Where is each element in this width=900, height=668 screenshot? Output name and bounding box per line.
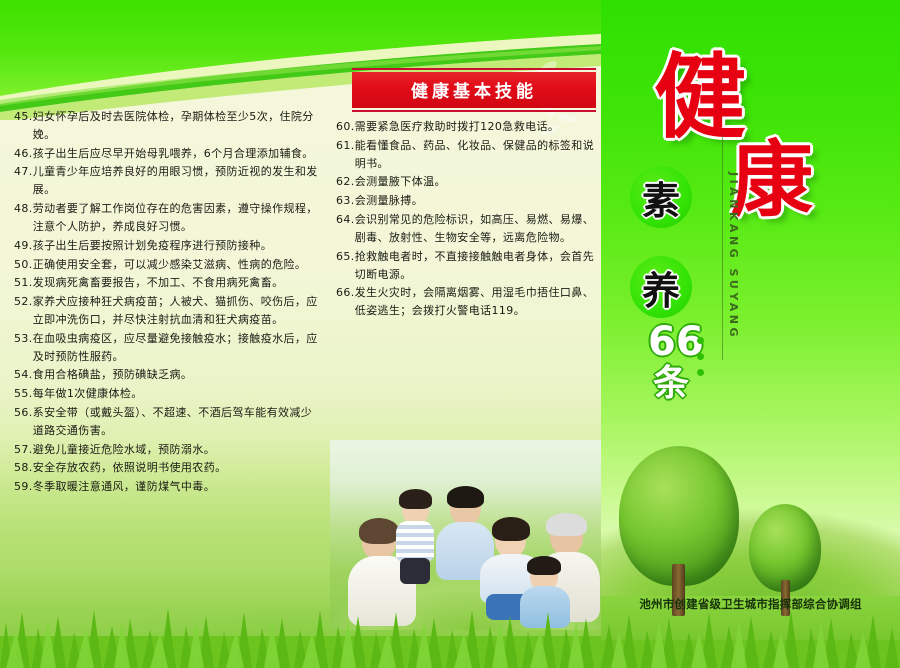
list-item-number: 50. [14, 256, 33, 274]
list-item: 52.家养犬应接种狂犬病疫苗；人被犬、猫抓伤、咬伤后，应立即冲洗伤口，并尽快注射… [14, 293, 320, 329]
decor-dot-2 [697, 353, 704, 360]
cover-panel: 健 康 素 养 66 条 池州市创建省级卫生城市指挥部综合协调组 [601, 0, 900, 668]
banner-rule-top [352, 68, 596, 70]
family-photo [330, 440, 601, 630]
list-item-number: 62. [336, 173, 355, 191]
list-item-number: 45. [14, 108, 33, 144]
list-item-text: 儿童青少年应培养良好的用眼习惯，预防近视的发生和发展。 [33, 163, 320, 199]
list-item-text: 正确使用安全套，可以减少感染艾滋病、性病的危险。 [33, 256, 320, 274]
list-item: 62.会测量腋下体温。 [336, 173, 598, 191]
pinyin-rule [722, 135, 723, 360]
list-item-number: 59. [14, 478, 33, 496]
list-item: 53.在血吸虫病疫区，应尽量避免接触疫水；接触疫水后，应及时预防性服药。 [14, 330, 320, 366]
list-item-number: 65. [336, 248, 355, 284]
list-item-text: 能看懂食品、药品、化妆品、保健品的标签和说明书。 [355, 137, 598, 173]
list-item: 47.儿童青少年应培养良好的用眼习惯，预防近视的发生和发展。 [14, 163, 320, 199]
left-text-column: 45.妇女怀孕后及时去医院体检，孕期体检至少5次，住院分娩。46.孩子出生后应尽… [14, 108, 320, 497]
section-banner: 健康基本技能 [352, 68, 596, 112]
list-item-number: 51. [14, 274, 33, 292]
list-item-text: 劳动者要了解工作岗位存在的危害因素，遵守操作规程，注意个人防护，养成良好习惯。 [33, 200, 320, 236]
list-item-text: 孩子出生后应尽早开始母乳喂养，6个月合理添加辅食。 [33, 145, 320, 163]
list-item-text: 会识别常见的危险标识，如高压、易燃、易爆、剧毒、放射性、生物安全等，远离危险物。 [355, 211, 598, 247]
list-item-number: 64. [336, 211, 355, 247]
list-item-text: 冬季取暖注意通风，谨防煤气中毒。 [33, 478, 320, 496]
list-item: 54.食用合格碘盐，预防碘缺乏病。 [14, 366, 320, 384]
list-item: 50.正确使用安全套，可以减少感染艾滋病、性病的危险。 [14, 256, 320, 274]
list-item: 66.发生火灾时，会隔离烟雾、用湿毛巾捂住口鼻、低姿逃生；会拨打火警电话119。 [336, 284, 598, 320]
list-item: 58.安全存放农药，依照说明书使用农药。 [14, 459, 320, 477]
list-item-text: 每年做1次健康体检。 [33, 385, 320, 403]
cover-circle-yang: 养 [630, 256, 692, 318]
grass-strip-inner [0, 606, 601, 668]
right-text-column: 60.需要紧急医疗救助时拨打120急救电话。61.能看懂食品、药品、化妆品、保健… [336, 118, 598, 321]
list-item-text: 家养犬应接种狂犬病疫苗；人被犬、猫抓伤、咬伤后，应立即冲洗伤口，并尽快注射抗血清… [33, 293, 320, 329]
list-item-text: 会测量腋下体温。 [355, 173, 598, 191]
decor-dot-1 [697, 337, 704, 344]
banner-rule-bottom [352, 110, 596, 112]
list-item: 45.妇女怀孕后及时去医院体检，孕期体检至少5次，住院分娩。 [14, 108, 320, 144]
list-item-text: 会测量脉搏。 [355, 192, 598, 210]
list-item-number: 66. [336, 284, 355, 320]
cover-count-number: 66 [648, 322, 704, 362]
list-item-text: 发现病死禽畜要报告，不加工、不食用病死禽畜。 [33, 274, 320, 292]
list-item: 65.抢救触电者时，不直接接触触电者身体，会首先切断电源。 [336, 248, 598, 284]
list-item-number: 47. [14, 163, 33, 199]
grass-strip-cover [601, 606, 900, 668]
list-item: 48.劳动者要了解工作岗位存在的危害因素，遵守操作规程，注意个人防护，养成良好习… [14, 200, 320, 236]
list-item-number: 61. [336, 137, 355, 173]
list-item-number: 54. [14, 366, 33, 384]
list-item-number: 49. [14, 237, 33, 255]
cover-pinyin: JIANKANG SUYANG [727, 172, 740, 340]
decor-dot-3 [697, 369, 704, 376]
inner-spread-panel: 健康基本技能 45.妇女怀孕后及时去医院体检，孕期体检至少5次，住院分娩。46.… [0, 0, 601, 668]
list-item: 59.冬季取暖注意通风，谨防煤气中毒。 [14, 478, 320, 496]
list-item-text: 安全存放农药，依照说明书使用农药。 [33, 459, 320, 477]
list-item-text: 需要紧急医疗救助时拨打120急救电话。 [355, 118, 598, 136]
list-item: 46.孩子出生后应尽早开始母乳喂养，6个月合理添加辅食。 [14, 145, 320, 163]
list-item-text: 发生火灾时，会隔离烟雾、用湿毛巾捂住口鼻、低姿逃生；会拨打火警电话119。 [355, 284, 598, 320]
list-item-text: 抢救触电者时，不直接接触触电者身体，会首先切断电源。 [355, 248, 598, 284]
list-item: 61.能看懂食品、药品、化妆品、保健品的标签和说明书。 [336, 137, 598, 173]
list-item-text: 避免儿童接近危险水域，预防溺水。 [33, 441, 320, 459]
list-item-number: 52. [14, 293, 33, 329]
list-item-text: 食用合格碘盐，预防碘缺乏病。 [33, 366, 320, 384]
list-item-number: 53. [14, 330, 33, 366]
list-item-text: 妇女怀孕后及时去医院体检，孕期体检至少5次，住院分娩。 [33, 108, 320, 144]
cover-footer-text: 池州市创建省级卫生城市指挥部综合协调组 [601, 596, 900, 612]
list-item-number: 56. [14, 404, 33, 440]
cover-count-unit: 条 [653, 366, 689, 402]
figure-young-girl [390, 486, 440, 582]
list-item-text: 在血吸虫病疫区，应尽量避免接触疫水；接触疫水后，应及时预防性服药。 [33, 330, 320, 366]
list-item: 64.会识别常见的危险标识，如高压、易燃、易爆、剧毒、放射性、生物安全等，远离危… [336, 211, 598, 247]
list-item: 57.避免儿童接近危险水域，预防溺水。 [14, 441, 320, 459]
cover-title-char-kang: 康 [731, 140, 813, 222]
list-item: 49.孩子出生后要按照计划免疫程序进行预防接种。 [14, 237, 320, 255]
list-item: 51.发现病死禽畜要报告，不加工、不食用病死禽畜。 [14, 274, 320, 292]
list-item-number: 55. [14, 385, 33, 403]
list-item: 60.需要紧急医疗救助时拨打120急救电话。 [336, 118, 598, 136]
cover-title-char-jian: 健 [654, 52, 746, 144]
tree-large [619, 446, 739, 616]
list-item-number: 58. [14, 459, 33, 477]
list-item: 56.系安全带（或戴头盔）、不超速、不酒后驾车能有效减少道路交通伤害。 [14, 404, 320, 440]
list-item-number: 63. [336, 192, 355, 210]
banner-title: 健康基本技能 [352, 72, 596, 108]
list-item-number: 48. [14, 200, 33, 236]
list-item: 55.每年做1次健康体检。 [14, 385, 320, 403]
list-item-text: 系安全带（或戴头盔）、不超速、不酒后驾车能有效减少道路交通伤害。 [33, 404, 320, 440]
list-item-text: 孩子出生后要按照计划免疫程序进行预防接种。 [33, 237, 320, 255]
brochure-page: 健康基本技能 45.妇女怀孕后及时去医院体检，孕期体检至少5次，住院分娩。46.… [0, 0, 900, 668]
list-item-number: 60. [336, 118, 355, 136]
list-item-number: 57. [14, 441, 33, 459]
cover-circle-su: 素 [630, 166, 692, 228]
list-item-number: 46. [14, 145, 33, 163]
list-item: 63.会测量脉搏。 [336, 192, 598, 210]
